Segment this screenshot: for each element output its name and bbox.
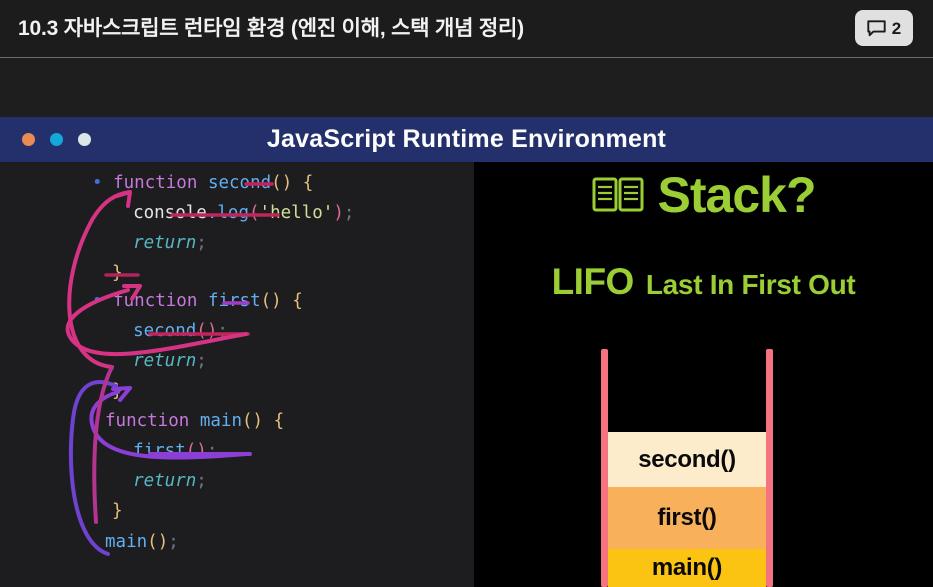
comment-button[interactable]: 2: [855, 10, 913, 46]
code-line-6: second();: [112, 316, 228, 346]
stack-frame-first: first(): [608, 487, 766, 549]
code-line-12: }: [112, 496, 123, 526]
code-line-3: return;: [112, 228, 207, 258]
comment-bubble-icon: [867, 20, 886, 37]
code-line-10: first();: [112, 436, 217, 466]
lecture-player-page: 10.3 자바스크립트 런타임 환경 (엔진 이해, 스택 개념 정리) 2 J…: [0, 0, 933, 587]
page-header: 10.3 자바스크립트 런타임 환경 (엔진 이해, 스택 개념 정리) 2: [0, 0, 933, 58]
video-frame[interactable]: JavaScript Runtime Environment • functio…: [0, 117, 933, 587]
stack-wall-left: [601, 349, 608, 587]
mock-window-titlebar: JavaScript Runtime Environment: [0, 117, 933, 162]
code-line-1: • function second() {: [92, 168, 313, 198]
call-stack-diagram: second() first() main(): [601, 349, 773, 587]
code-line-5: • function first() {: [92, 286, 303, 316]
code-panel: • function second() { console.log('hello…: [0, 162, 474, 587]
lifo-expanded-label: Last In First Out: [646, 271, 856, 299]
code-line-9: function main() {: [105, 406, 284, 436]
code-block: • function second() { console.log('hello…: [0, 162, 474, 587]
page-title: 10.3 자바스크립트 런타임 환경 (엔진 이해, 스택 개념 정리): [18, 0, 524, 58]
header-spacer: [0, 59, 933, 117]
stack-frame-second: second(): [608, 432, 766, 487]
mock-window-title: JavaScript Runtime Environment: [0, 117, 933, 162]
stack-frame-main: main(): [608, 549, 766, 587]
code-line-4: }: [112, 258, 123, 288]
stack-heading: Stack?: [474, 170, 933, 220]
code-line-8: }: [112, 376, 123, 406]
open-book-icon: [592, 175, 644, 215]
code-line-7: return;: [112, 346, 207, 376]
stack-panel: Stack? LIFO Last In First Out second() f…: [474, 162, 933, 587]
lifo-abbreviation: LIFO: [552, 263, 634, 300]
code-line-11: return;: [112, 466, 207, 496]
stack-wall-right: [766, 349, 773, 587]
code-line-13: main();: [105, 527, 179, 557]
stack-title: Stack?: [658, 170, 816, 220]
stack-frames: second() first() main(): [608, 349, 766, 587]
lifo-row: LIFO Last In First Out: [474, 263, 933, 300]
comment-count: 2: [892, 20, 901, 37]
code-line-2: console.log('hello');: [112, 198, 354, 228]
